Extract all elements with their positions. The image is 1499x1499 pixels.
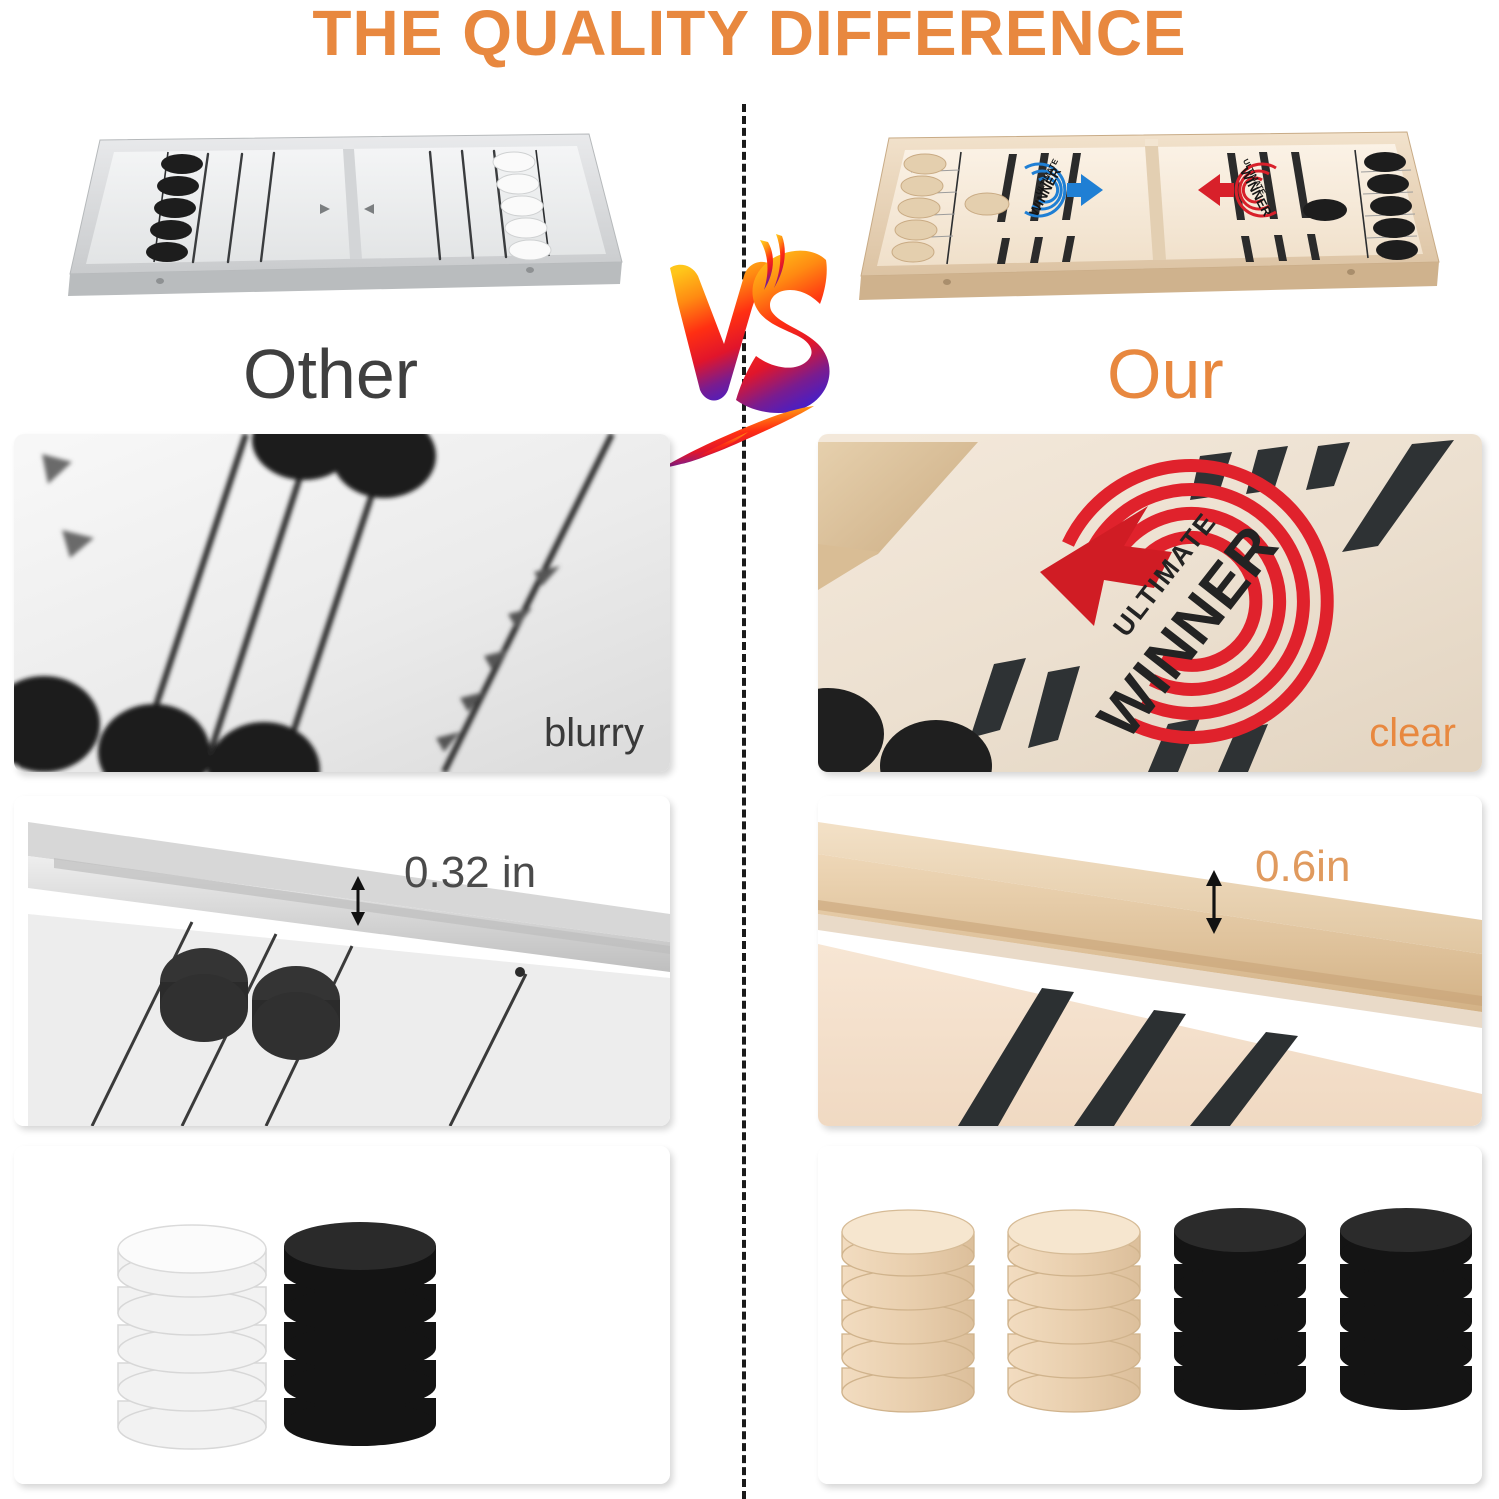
thickness-label-our: 0.6in: [1255, 842, 1350, 892]
panel-our-thickness: [818, 796, 1482, 1126]
label-other: Other: [243, 334, 418, 414]
caption-blurry: blurry: [544, 711, 644, 756]
panel-our-print-closeup: WINNER ULTIMATE clear: [818, 434, 1482, 772]
thickness-label-other: 0.32 in: [404, 848, 536, 898]
panel-other-thickness: [14, 796, 670, 1126]
hero-image-our-board: WINNER ULTIMATE WINNER ULTIMATE: [855, 112, 1445, 302]
page-title: THE QUALITY DIFFERENCE: [0, 0, 1499, 70]
panel-other-puck-stacks: [14, 1146, 670, 1484]
thickness-arrow-our: [1200, 870, 1228, 934]
label-our: Our: [1107, 334, 1224, 414]
caption-clear: clear: [1369, 711, 1456, 756]
panel-our-puck-stacks: [818, 1146, 1482, 1484]
hero-image-other-board: [62, 112, 627, 302]
panel-other-print-closeup: blurry: [14, 434, 670, 772]
thickness-arrow-other: [345, 876, 371, 926]
